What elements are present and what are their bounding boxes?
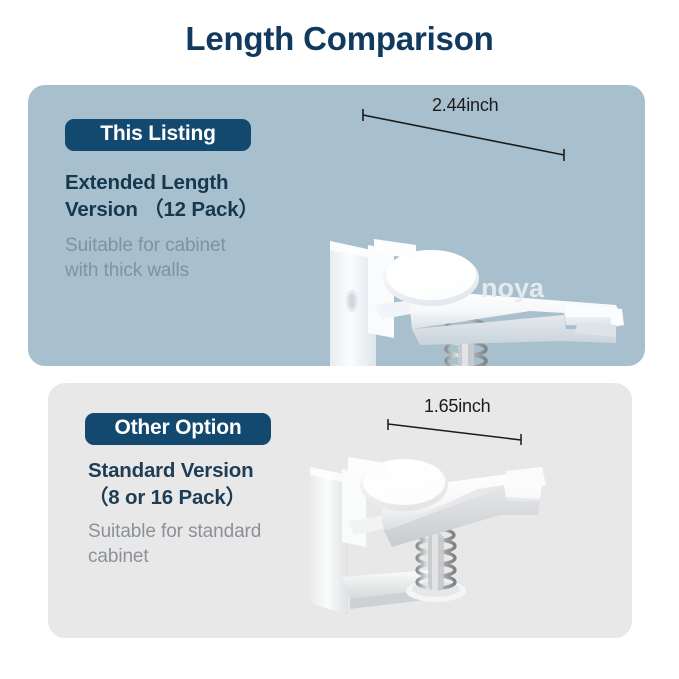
brand-mark-noya: noya xyxy=(481,273,545,303)
product-image-cabinet-latch-extended: noya xyxy=(316,233,636,366)
page-title: Length Comparison xyxy=(0,20,679,58)
panel-heading-this-listing: Extended Length Version （12 Pack） xyxy=(65,169,325,224)
dimension-label-this-listing: 2.44inch xyxy=(432,95,498,116)
comparison-panel-this-listing: This Listing Extended Length Version （12… xyxy=(28,85,645,366)
badge-this-listing: This Listing xyxy=(65,119,251,151)
badge-other-option: Other Option xyxy=(85,413,271,445)
product-image-cabinet-latch-standard xyxy=(300,443,570,628)
panel-subtext-this-listing: Suitable for cabinet with thick walls xyxy=(65,233,315,284)
dimension-label-other-option: 1.65inch xyxy=(424,396,490,417)
